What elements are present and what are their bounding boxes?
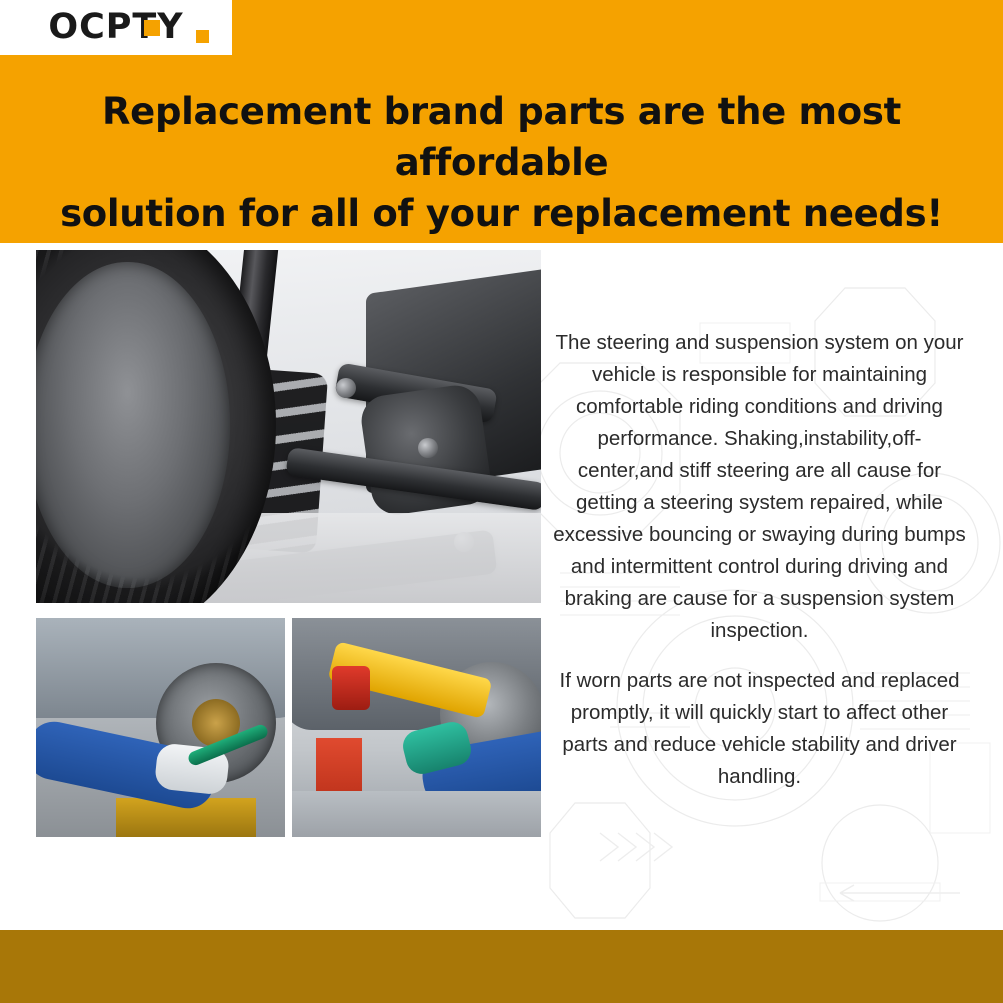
- headline-line-1: Replacement brand parts are the most aff…: [50, 86, 953, 188]
- control-arm-replacement-photo: [292, 618, 541, 837]
- description-paragraph-2: If worn parts are not inspected and repl…: [552, 665, 967, 793]
- logo-plate: OCPTY: [0, 0, 232, 55]
- logo-text: OCPTY: [48, 7, 183, 47]
- tire-tread-pattern: [36, 250, 276, 603]
- content-area: The steering and suspension system on yo…: [0, 243, 1003, 930]
- header-band: OCPTY Replacement brand parts are the mo…: [0, 0, 1003, 243]
- shop-floor: [292, 791, 541, 837]
- description-paragraph-1: The steering and suspension system on yo…: [552, 327, 967, 647]
- logo-accent-square-icon: [144, 20, 160, 36]
- suspension-assembly-photo: [36, 250, 541, 603]
- headline-line-2: solution for all of your replacement nee…: [50, 188, 953, 239]
- footer-band-inner: [0, 930, 1003, 1003]
- bolt-icon: [418, 438, 438, 458]
- brake-service-photo: [36, 618, 285, 837]
- description-text: The steering and suspension system on yo…: [552, 327, 967, 793]
- footer-band: [0, 930, 1003, 1003]
- headline: Replacement brand parts are the most aff…: [50, 86, 953, 239]
- logo-accent-square-small-icon: [196, 30, 209, 43]
- ocpty-logo: OCPTY: [48, 10, 183, 45]
- product-infographic: OCPTY Replacement brand parts are the mo…: [0, 0, 1003, 1003]
- red-bushing: [332, 666, 370, 710]
- bolt-icon: [336, 378, 356, 398]
